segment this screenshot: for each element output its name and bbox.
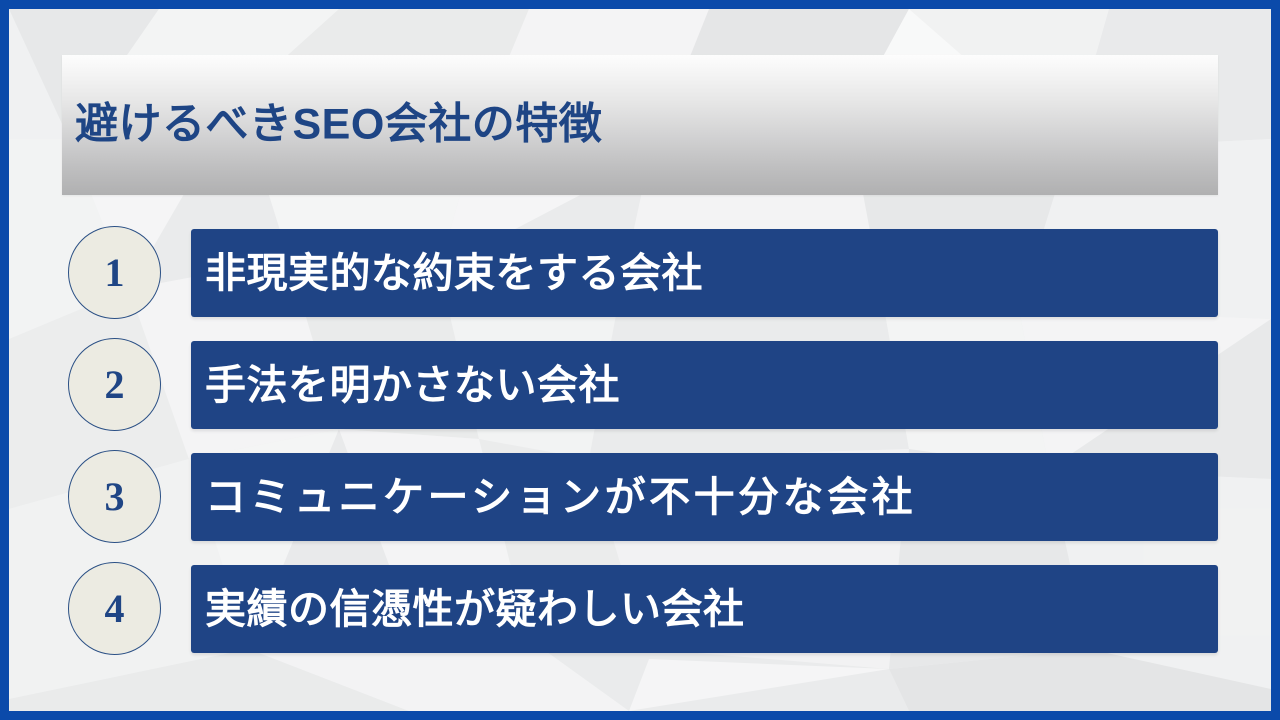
list-item[interactable]: 3 コミュニケーションが不十分な会社 <box>9 450 1271 546</box>
list-item-number: 2 <box>105 365 125 405</box>
list-item[interactable]: 1 非現実的な約束をする会社 <box>9 226 1271 322</box>
list-item-number: 1 <box>105 253 125 293</box>
list-item[interactable]: 4 実績の信憑性が疑わしい会社 <box>9 562 1271 658</box>
list-item-label: コミュニケーションが不十分な会社 <box>191 477 916 518</box>
list-item-number: 4 <box>105 589 125 629</box>
list-item-number: 3 <box>105 477 125 517</box>
slide: 避けるべきSEO会社の特徴 1 非現実的な約束をする会社 2 手法を明かさない会… <box>0 0 1280 720</box>
list-item-bar[interactable]: 非現実的な約束をする会社 <box>191 229 1218 317</box>
feature-list: 1 非現実的な約束をする会社 2 手法を明かさない会社 3 <box>9 9 1271 711</box>
list-item-number-badge: 3 <box>68 450 161 543</box>
list-item-number-badge: 2 <box>68 338 161 431</box>
list-item-bar[interactable]: コミュニケーションが不十分な会社 <box>191 453 1218 541</box>
list-item-label: 手法を明かさない会社 <box>191 365 620 406</box>
list-item[interactable]: 2 手法を明かさない会社 <box>9 338 1271 434</box>
list-item-number-badge: 1 <box>68 226 161 319</box>
list-item-number-badge: 4 <box>68 562 161 655</box>
slide-inner: 避けるべきSEO会社の特徴 1 非現実的な約束をする会社 2 手法を明かさない会… <box>9 9 1271 711</box>
list-item-label: 非現実的な約束をする会社 <box>191 253 703 294</box>
list-item-bar[interactable]: 実績の信憑性が疑わしい会社 <box>191 565 1218 653</box>
list-item-bar[interactable]: 手法を明かさない会社 <box>191 341 1218 429</box>
list-item-label: 実績の信憑性が疑わしい会社 <box>191 589 745 630</box>
